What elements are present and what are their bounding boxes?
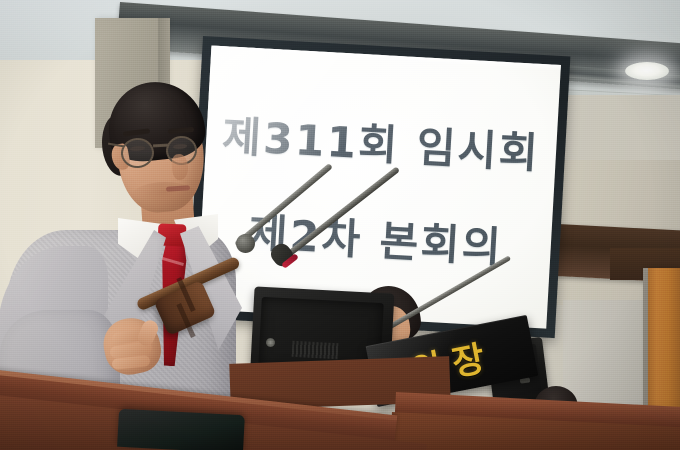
assembly-session-photograph: 제311회 임시회 제2차 본회의 의장 <box>0 0 680 450</box>
monitor-center-vent <box>292 341 339 359</box>
recessed-ceiling-light <box>625 62 669 80</box>
monitor-foreground <box>117 409 245 450</box>
projection-screen-line-1: 제311회 임시회 <box>205 101 558 181</box>
